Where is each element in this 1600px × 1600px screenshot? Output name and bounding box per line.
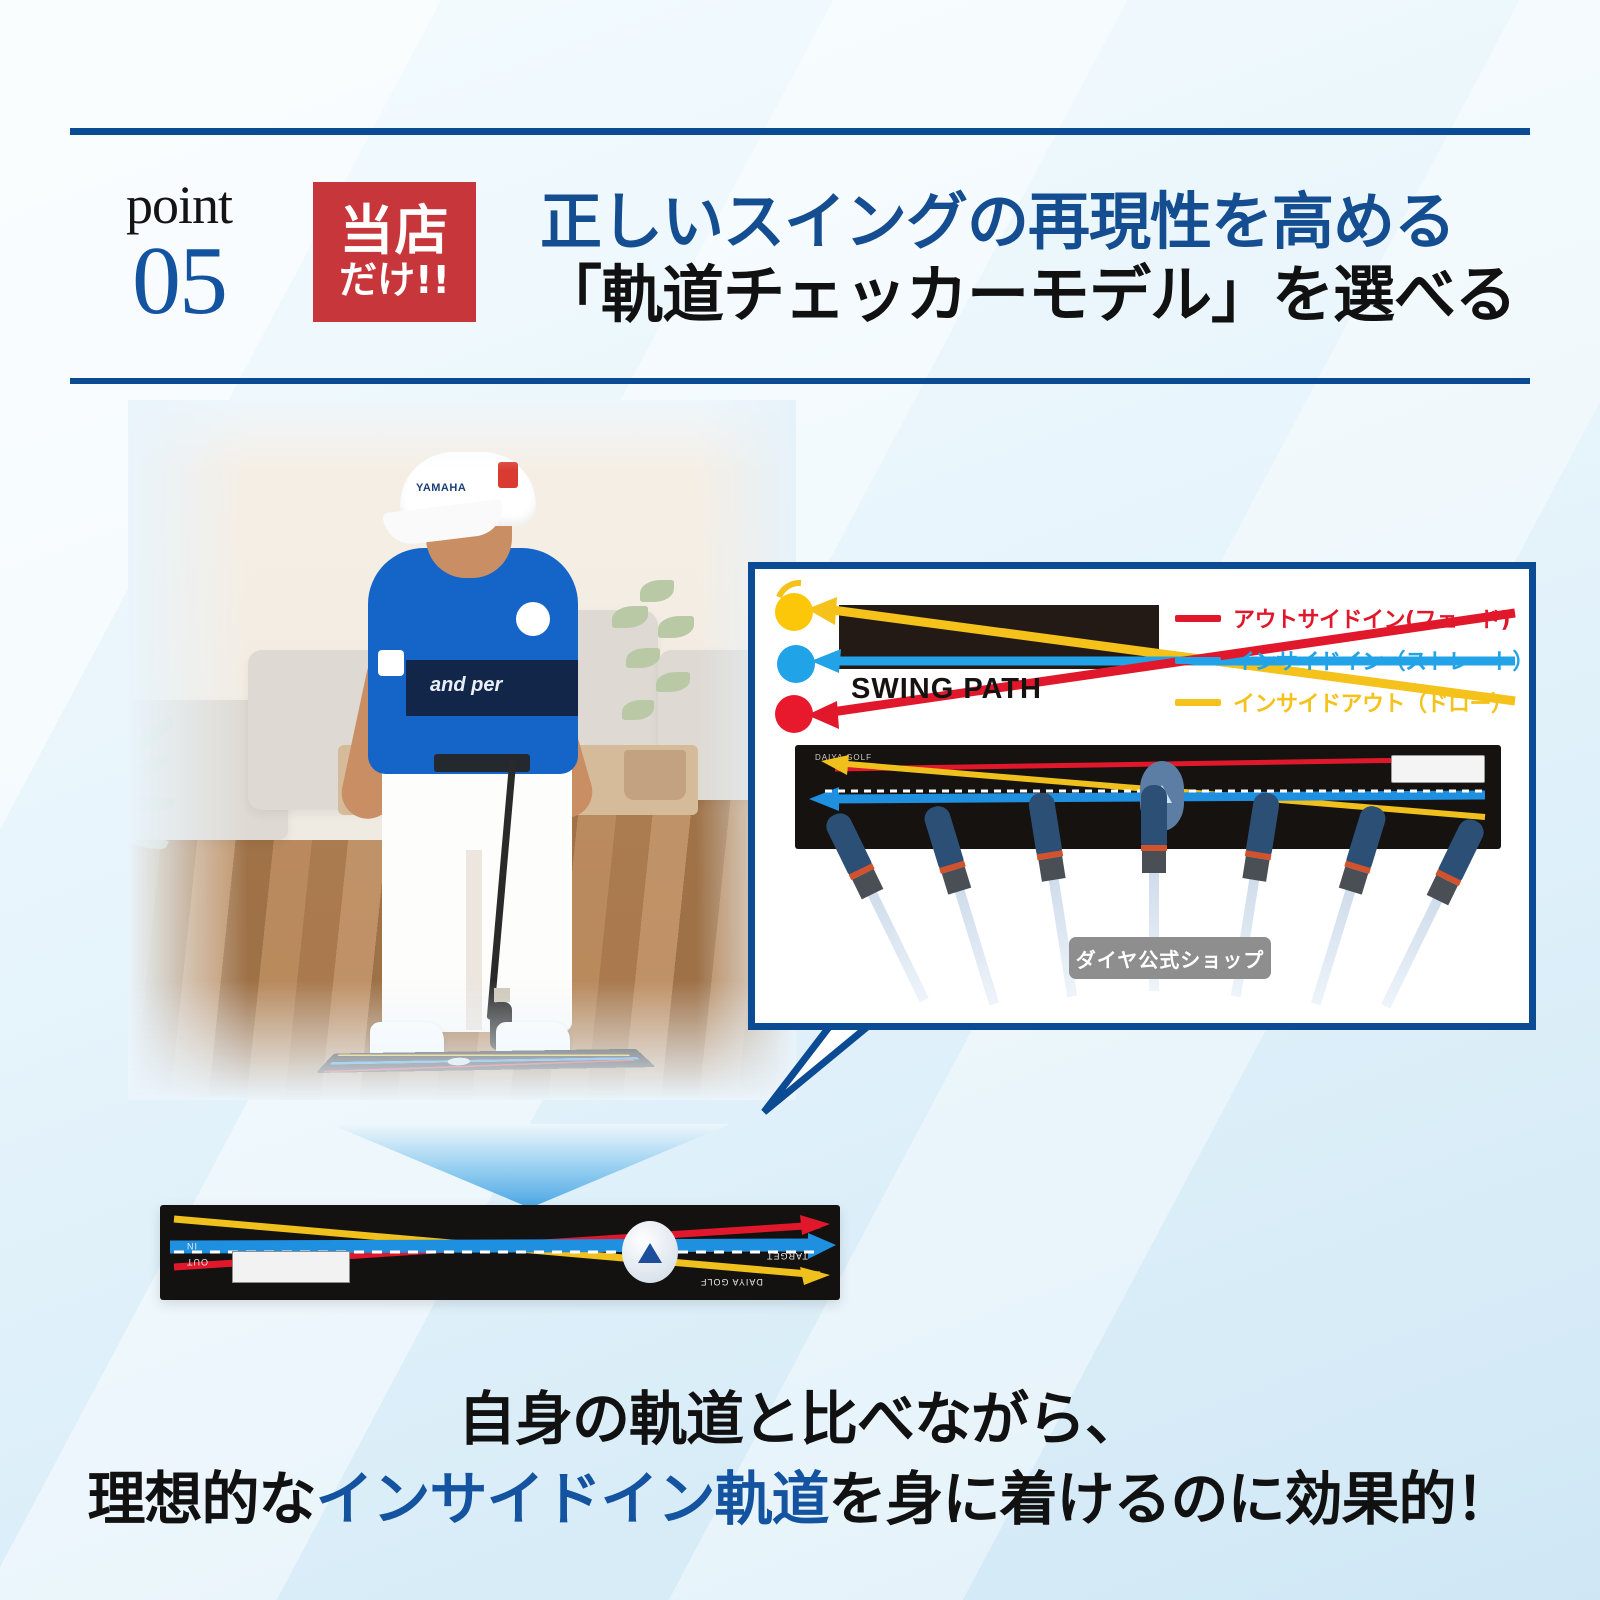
product-mat-large: IN OUT TARGET DAIYA GOLF (160, 1205, 840, 1300)
grip-lower (1142, 851, 1166, 873)
caption-line-2-highlight: インサイドイン軌道 (315, 1465, 828, 1533)
swing-path-diagram: SWING PATH アウトサイドイン(フェード) インサイドイン（ストレート）… (755, 569, 1529, 729)
official-shop-button[interactable]: ダイヤ公式ショップ (1069, 937, 1271, 979)
bottom-caption: 自身の軌道と比べながら、 理想的なインサイドイン軌道を身に着けるのに効果的！ (0, 1380, 1600, 1540)
legend-swatch-inside-out (1175, 699, 1221, 706)
store-exclusive-badge: 当店 だけ!! (313, 182, 476, 322)
product-mat-legend-sticker (1391, 755, 1485, 783)
mat-marker-target: TARGET (766, 1251, 808, 1261)
legend-item: アウトサイドイン(フェード) (1175, 597, 1525, 639)
leaf-icon (640, 580, 674, 602)
header-rule-bottom (70, 378, 1530, 384)
mat-marker-in: IN (186, 1241, 197, 1251)
caption-line-2: 理想的なインサイドイン軌道を身に着けるのに効果的！ (0, 1458, 1600, 1540)
shirt-sponsor-patch (378, 650, 404, 676)
club-shaft (867, 890, 929, 1002)
caption-line-1: 自身の軌道と比べながら、 (0, 1380, 1600, 1458)
legend-label-outside-in: アウトサイドイン(フェード) (1233, 602, 1510, 634)
leaf-icon (658, 616, 694, 638)
badge-line-1: 当店 (340, 204, 450, 258)
mat-ball-logo-icon (638, 1243, 662, 1263)
swing-path-label: SWING PATH (851, 673, 1042, 706)
swing-path-legend: アウトサイドイン(フェード) インサイドイン（ストレート） インサイドアウト（ド… (1175, 597, 1525, 723)
club-grip (1141, 785, 1167, 889)
shirt-brand-text: and per (430, 674, 502, 697)
photo-fade-bottom (128, 980, 796, 1100)
grip-lower (1242, 856, 1269, 881)
promo-page: point 05 当店 だけ!! 正しいスイングの再現性を高める 「軌道チェッカ… (0, 0, 1600, 1600)
legend-item: インサイドアウト（ドロー） (1175, 681, 1525, 723)
grip-top (1141, 785, 1167, 847)
club-shaft (954, 888, 999, 1006)
ball-red-icon (775, 695, 813, 733)
legend-swatch-inside-in (1175, 657, 1221, 664)
title-line-1: 正しいスイングの再現性を高める (540, 186, 1540, 258)
mat-legend-sticker (232, 1251, 350, 1283)
swing-path-callout-panel: SWING PATH アウトサイドイン(フェード) インサイドイン（ストレート）… (748, 562, 1536, 1030)
leaf-icon (612, 606, 648, 628)
ball-blue-icon (777, 645, 815, 683)
club-shaft (1311, 888, 1356, 1006)
legend-label-inside-in: インサイドイン（ストレート） (1233, 644, 1534, 676)
legend-item: インサイドイン（ストレート） (1175, 639, 1525, 681)
cap-brand-text: YAMAHA (416, 482, 466, 494)
title-line-2: 「軌道チェッカーモデル」を選べる (540, 258, 1540, 332)
product-photo: DAIYA GOLF (781, 741, 1517, 969)
golfer-photo: and per YAMAHA (128, 400, 796, 1100)
legend-swatch-outside-in (1175, 615, 1221, 622)
point-label: point (84, 178, 274, 232)
badge-line-2: だけ!! (339, 260, 450, 300)
leaf-icon (622, 700, 654, 720)
mat-golf-ball (622, 1221, 678, 1283)
point-number: 05 (84, 232, 274, 330)
down-arrow-icon (330, 1120, 730, 1210)
official-shop-button-label: ダイヤ公式ショップ (1076, 944, 1264, 973)
caption-line-2-post: を身に着けるのに効果的！ (829, 1465, 1513, 1533)
header-rule-top (70, 128, 1530, 135)
shirt-emblem (516, 602, 550, 636)
ball-yellow-icon (775, 593, 813, 631)
leaf-icon (656, 672, 690, 692)
page-title: 正しいスイングの再現性を高める 「軌道チェッカーモデル」を選べる (540, 186, 1540, 332)
mat-marker-out: OUT (186, 1257, 208, 1267)
mat-brand-text: DAIYA GOLF (700, 1277, 763, 1287)
grip-lower (1038, 856, 1065, 881)
club-shaft (1381, 896, 1443, 1008)
plant-pot (624, 750, 686, 800)
leaf-icon (626, 648, 660, 668)
legend-label-inside-out: インサイドアウト（ドロー） (1233, 686, 1513, 718)
caption-line-2-pre: 理想的な (87, 1465, 315, 1533)
